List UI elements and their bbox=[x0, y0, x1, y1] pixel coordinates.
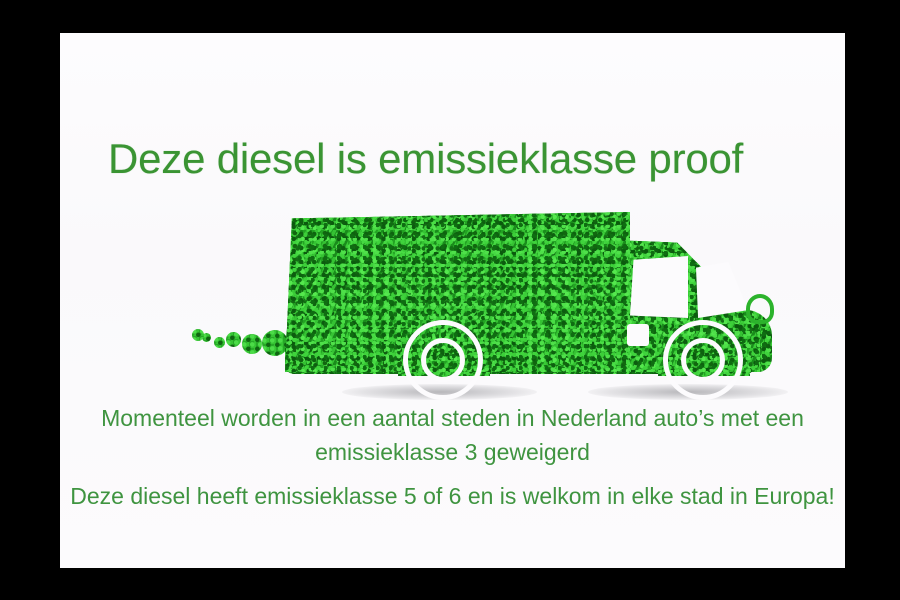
rear-wheel-hub bbox=[421, 338, 465, 382]
front-wheel-hub bbox=[681, 338, 725, 382]
door-window bbox=[630, 256, 688, 318]
green-van-illustration bbox=[190, 198, 770, 423]
exhaust-puff-icon bbox=[242, 334, 262, 354]
poster-frame: Deze diesel is emissieklasse proof bbox=[0, 0, 900, 600]
quarter-window bbox=[627, 324, 649, 346]
poster-panel: Deze diesel is emissieklasse proof bbox=[60, 33, 845, 568]
body-paragraph-2: Deze diesel heeft emissieklasse 5 of 6 e… bbox=[60, 479, 845, 513]
front-wheel bbox=[663, 320, 743, 400]
page-title: Deze diesel is emissieklasse proof bbox=[108, 135, 743, 183]
exhaust-puff-icon bbox=[192, 329, 204, 341]
rear-wheel bbox=[403, 320, 483, 400]
exhaust-puff-icon bbox=[214, 337, 225, 348]
exhaust-puff-icon bbox=[226, 332, 241, 347]
body-copy: Momenteel worden in een aantal steden in… bbox=[60, 401, 845, 513]
windshield bbox=[696, 262, 748, 318]
body-paragraph-1: Momenteel worden in een aantal steden in… bbox=[60, 401, 845, 469]
wing-mirror-icon bbox=[746, 294, 774, 324]
